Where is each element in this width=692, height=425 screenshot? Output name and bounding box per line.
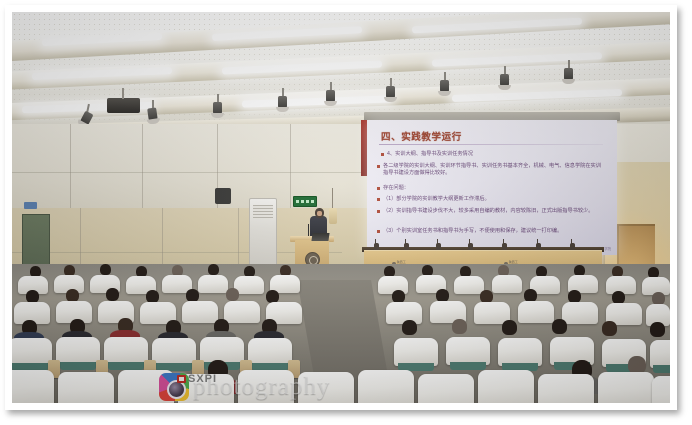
microphone	[502, 243, 507, 250]
stage-spotlight	[326, 90, 335, 103]
slide-bullet-text: （2）实训指导书建设步伐不大，较多采用自编的教材，内容较陈旧，正式出版指导书较少…	[383, 208, 593, 215]
bullet-square-icon	[377, 230, 380, 233]
audience-head	[402, 320, 417, 335]
microphone	[436, 243, 441, 250]
slide-bullet: 各二级学院的实训大纲、实训环节指导书、实训任务书基本齐全，机械、电气、信息学院在…	[377, 163, 605, 178]
bullet-square-icon	[377, 165, 380, 168]
slide-bullet: （3）个别实训室任务书和指导书为手写，不便使用和保存，建议统一打印编。	[377, 228, 605, 235]
stage-spotlight	[278, 96, 287, 109]
stage-spotlight	[213, 102, 222, 115]
auditorium-seat	[492, 275, 522, 293]
slide-title-divider	[379, 144, 603, 145]
auditorium-seat	[418, 374, 474, 403]
auditorium-seat	[248, 338, 292, 366]
auditorium-seat	[518, 301, 554, 323]
stage-spotlight	[440, 80, 449, 93]
stage-spotlight	[147, 107, 158, 121]
audience-head	[100, 264, 111, 275]
photo-frame: 四、实践教学运行 4、实训大纲、指导书及实训任务情况 各二级学院的实训大纲、实训…	[5, 5, 677, 410]
ceiling-projector	[107, 98, 140, 113]
microphone	[536, 243, 541, 250]
auditorium-seat	[498, 338, 542, 366]
slide-bullet: （2）实训指导书建设步伐不大，较多采用自编的教材，内容较陈旧，正式出版指导书较少…	[377, 208, 605, 215]
auditorium-seat	[394, 338, 438, 366]
slide-bullet-text: 存在问题：	[383, 185, 409, 192]
audience-head	[602, 321, 617, 336]
pendant-lamp	[329, 208, 337, 224]
slide-bullet-text: 各二级学院的实训大纲、实训环节指导书、实训任务书基本齐全，机械、电气、信息学院在…	[383, 163, 605, 178]
stage-spotlight	[386, 86, 395, 99]
bullet-square-icon	[377, 187, 380, 190]
watermark-brand: SXPI	[188, 373, 217, 385]
slide-bullet: 4、实训大纲、指导书及实训任务情况	[381, 151, 473, 158]
audience-head	[226, 288, 239, 301]
auditorium-seat	[650, 340, 670, 368]
air-conditioner-unit	[249, 198, 277, 272]
slide-bullet-text: 4、实训大纲、指导书及实训任务情况	[387, 151, 473, 158]
auditorium-seat	[182, 301, 218, 323]
auditorium-seat	[538, 374, 594, 403]
auditorium-seat	[56, 337, 100, 365]
bullet-square-icon	[381, 153, 384, 156]
slide-bullet: （1）部分学院的实训教学大纲更新工作滞后。	[377, 196, 490, 203]
auditorium-seat	[12, 338, 52, 366]
slide-title: 四、实践教学运行	[381, 129, 462, 143]
auditorium-seat	[58, 372, 114, 403]
bullet-square-icon	[377, 210, 380, 213]
sxpi-mark-icon	[177, 375, 186, 383]
microphone	[404, 243, 409, 250]
audience-head	[552, 319, 567, 334]
auditorium-seat	[562, 302, 598, 324]
audience-head	[208, 264, 219, 275]
slide-bullet-text: （3）个别实训室任务书和指导书为手写，不便使用和保存，建议统一打印编。	[383, 228, 562, 235]
auditorium-seat	[224, 301, 260, 323]
auditorium-seat	[454, 276, 484, 294]
stage-spotlight	[500, 74, 509, 87]
auditorium-photograph: 四、实践教学运行 4、实训大纲、指导书及实训任务情况 各二级学院的实训大纲、实训…	[12, 12, 670, 403]
audience-head	[650, 322, 665, 337]
bullet-square-icon	[377, 198, 380, 201]
audience-head	[452, 319, 467, 334]
auditorium-seat	[198, 275, 228, 293]
laptop	[311, 233, 329, 241]
pendant-lamp-wire	[332, 188, 333, 209]
auditorium-seat	[12, 370, 54, 403]
wall-sign	[24, 202, 37, 209]
audience-head	[502, 320, 517, 335]
audience-head	[106, 288, 119, 301]
exit-sign	[293, 196, 317, 207]
auditorium-seat	[152, 338, 196, 366]
auditorium-seat	[478, 370, 534, 403]
slide-bullet-text: （1）部分学院的实训教学大纲更新工作滞后。	[383, 196, 490, 203]
wall-speaker	[215, 188, 231, 204]
projector-mount	[122, 88, 124, 99]
auditorium-seat	[446, 337, 490, 365]
speaker-face	[317, 211, 322, 216]
auditorium-seat	[598, 372, 654, 403]
projection-screen: 四、实践教学运行 4、实训大纲、指导书及实训任务情况 各二级学院的实训大纲、实训…	[367, 120, 617, 255]
microphone	[570, 243, 575, 250]
slide-bullet: 存在问题：	[377, 185, 409, 192]
auditorium-seat	[652, 376, 670, 403]
microphone	[374, 243, 379, 250]
auditorium-seat	[104, 337, 148, 365]
microphone	[468, 243, 473, 250]
stage-spotlight	[564, 68, 573, 81]
